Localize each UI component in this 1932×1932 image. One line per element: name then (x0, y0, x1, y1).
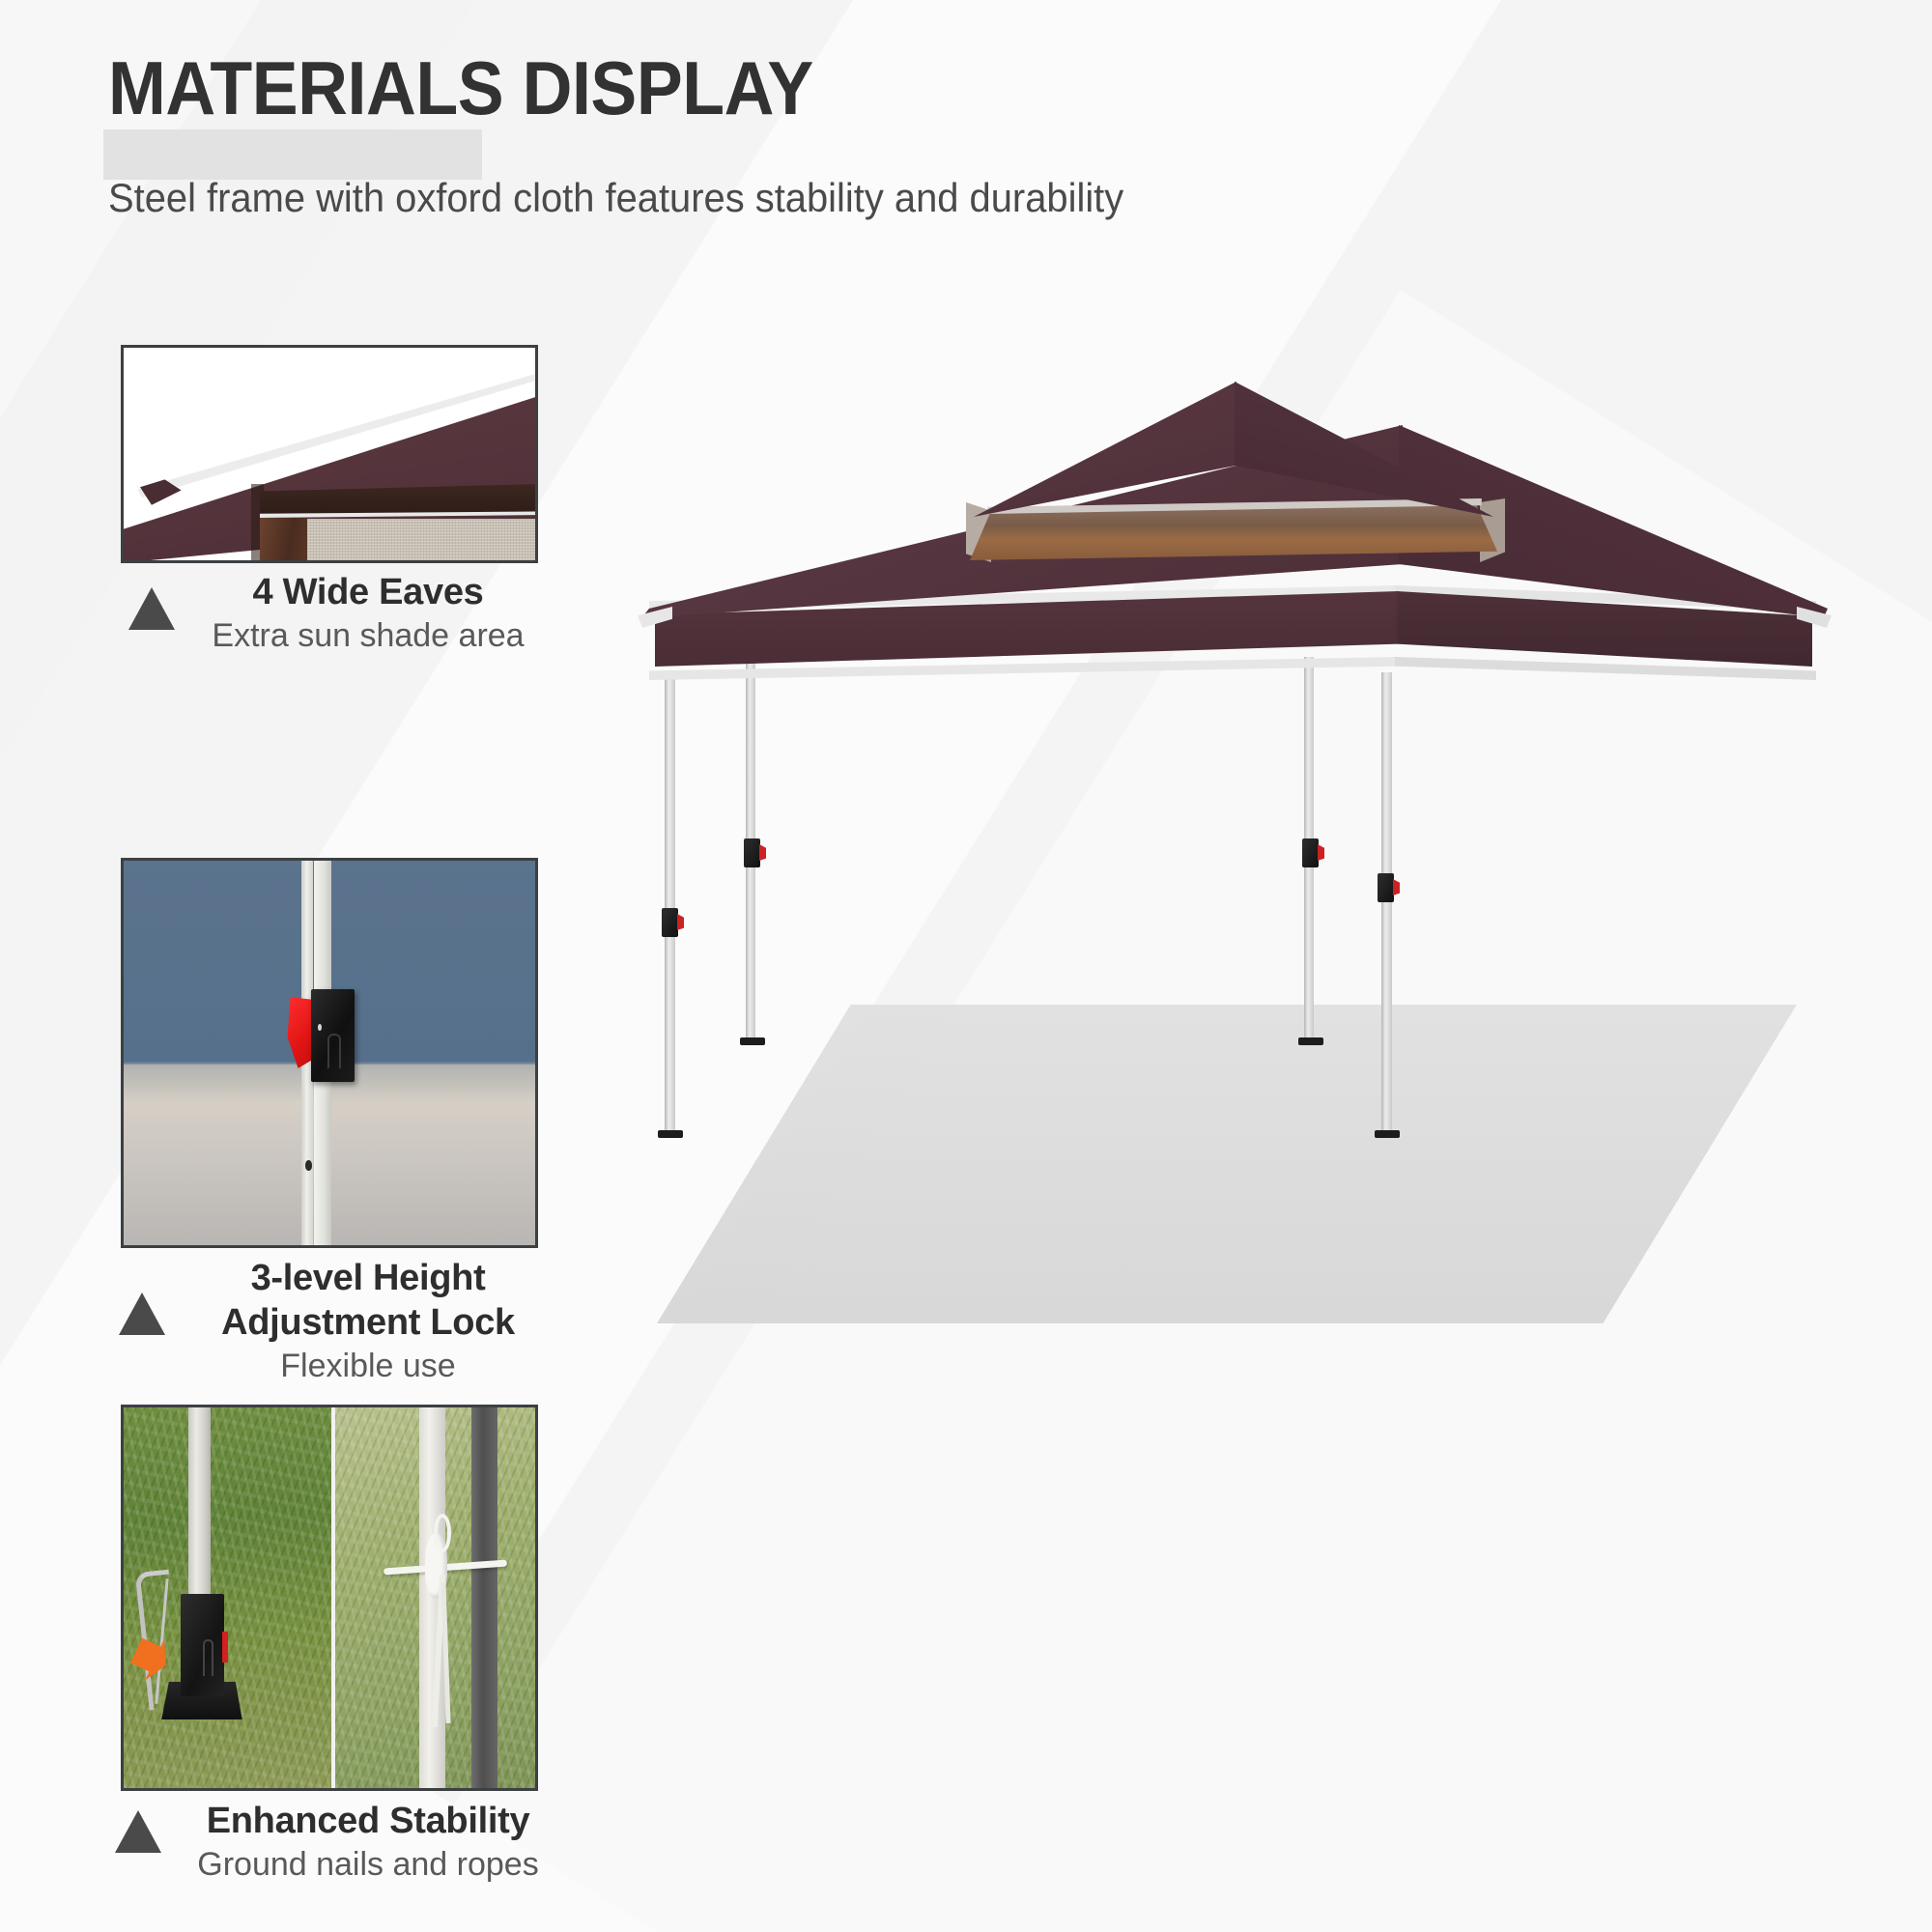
caption-title: Enhanced Stability (169, 1799, 567, 1843)
leg-lock-collar-1 (662, 908, 678, 937)
ground-stake-photo-half (124, 1407, 331, 1788)
gazebo-leg-pole-dark (471, 1407, 497, 1788)
red-lock-tab (222, 1632, 228, 1662)
gazebo-floor-plane (657, 1005, 1797, 1323)
caption-stability: Enhanced Stability Ground nails and rope… (121, 1799, 567, 1886)
leg-foot-pad-4 (1375, 1130, 1400, 1138)
caption-title: 4 Wide Eaves (169, 570, 567, 614)
feature-photo-stability (121, 1405, 538, 1791)
gazebo-leg-front-left (665, 672, 675, 1136)
header: MATERIALS DISPLAY Steel frame with oxfor… (108, 46, 1557, 222)
caption-title-line1: 3-level Height (169, 1256, 567, 1300)
title-highlight-bar (103, 129, 482, 180)
leg-foot-pad-3 (1298, 1037, 1323, 1045)
black-lock-housing (311, 989, 355, 1082)
ground-stake-and-rope-photo (124, 1407, 535, 1788)
feature-photo-wide-eaves (121, 345, 538, 563)
rope-loop (434, 1514, 451, 1552)
caption-height-lock: 3-level Height Adjustment Lock Flexible … (121, 1256, 567, 1387)
triangle-up-icon (128, 587, 175, 630)
triangle-up-icon (115, 1810, 161, 1853)
pole-adjust-hole (305, 1160, 311, 1170)
canopy-eave-closeup-photo (124, 348, 535, 560)
leg-lock-collar-2 (744, 838, 760, 867)
caption-title-line2: Adjustment Lock (169, 1300, 567, 1345)
caption-wide-eaves: 4 Wide Eaves Extra sun shade area (121, 570, 567, 657)
gazebo-leg-front-right (1381, 672, 1392, 1136)
leg-foot-pad-1 (658, 1130, 683, 1138)
housing-slot (327, 1034, 341, 1068)
caption-subtitle: Extra sun shade area (169, 614, 567, 657)
pop-up-gazebo-canopy-render (541, 367, 1913, 1333)
foot-slot (203, 1639, 214, 1675)
leg-lock-collar-4 (1378, 873, 1394, 902)
triangle-up-icon (119, 1293, 165, 1335)
canopy-corner-post-fabric (260, 518, 309, 563)
canopy-mesh-wall (307, 519, 538, 563)
caption-subtitle: Flexible use (169, 1345, 567, 1387)
leg-lock-collar-3 (1302, 838, 1319, 867)
feature-photo-height-lock (121, 858, 538, 1248)
height-adjustment-lock-photo (124, 861, 535, 1245)
page-subtitle: Steel frame with oxford cloth features s… (108, 174, 1485, 222)
housing-screw (318, 1024, 322, 1030)
page-title: MATERIALS DISPLAY (108, 46, 813, 129)
title-wrap: MATERIALS DISPLAY (108, 46, 874, 129)
caption-subtitle: Ground nails and ropes (169, 1843, 567, 1886)
rope-tie-photo-half (331, 1407, 535, 1788)
leg-foot-pad-2 (740, 1037, 765, 1045)
